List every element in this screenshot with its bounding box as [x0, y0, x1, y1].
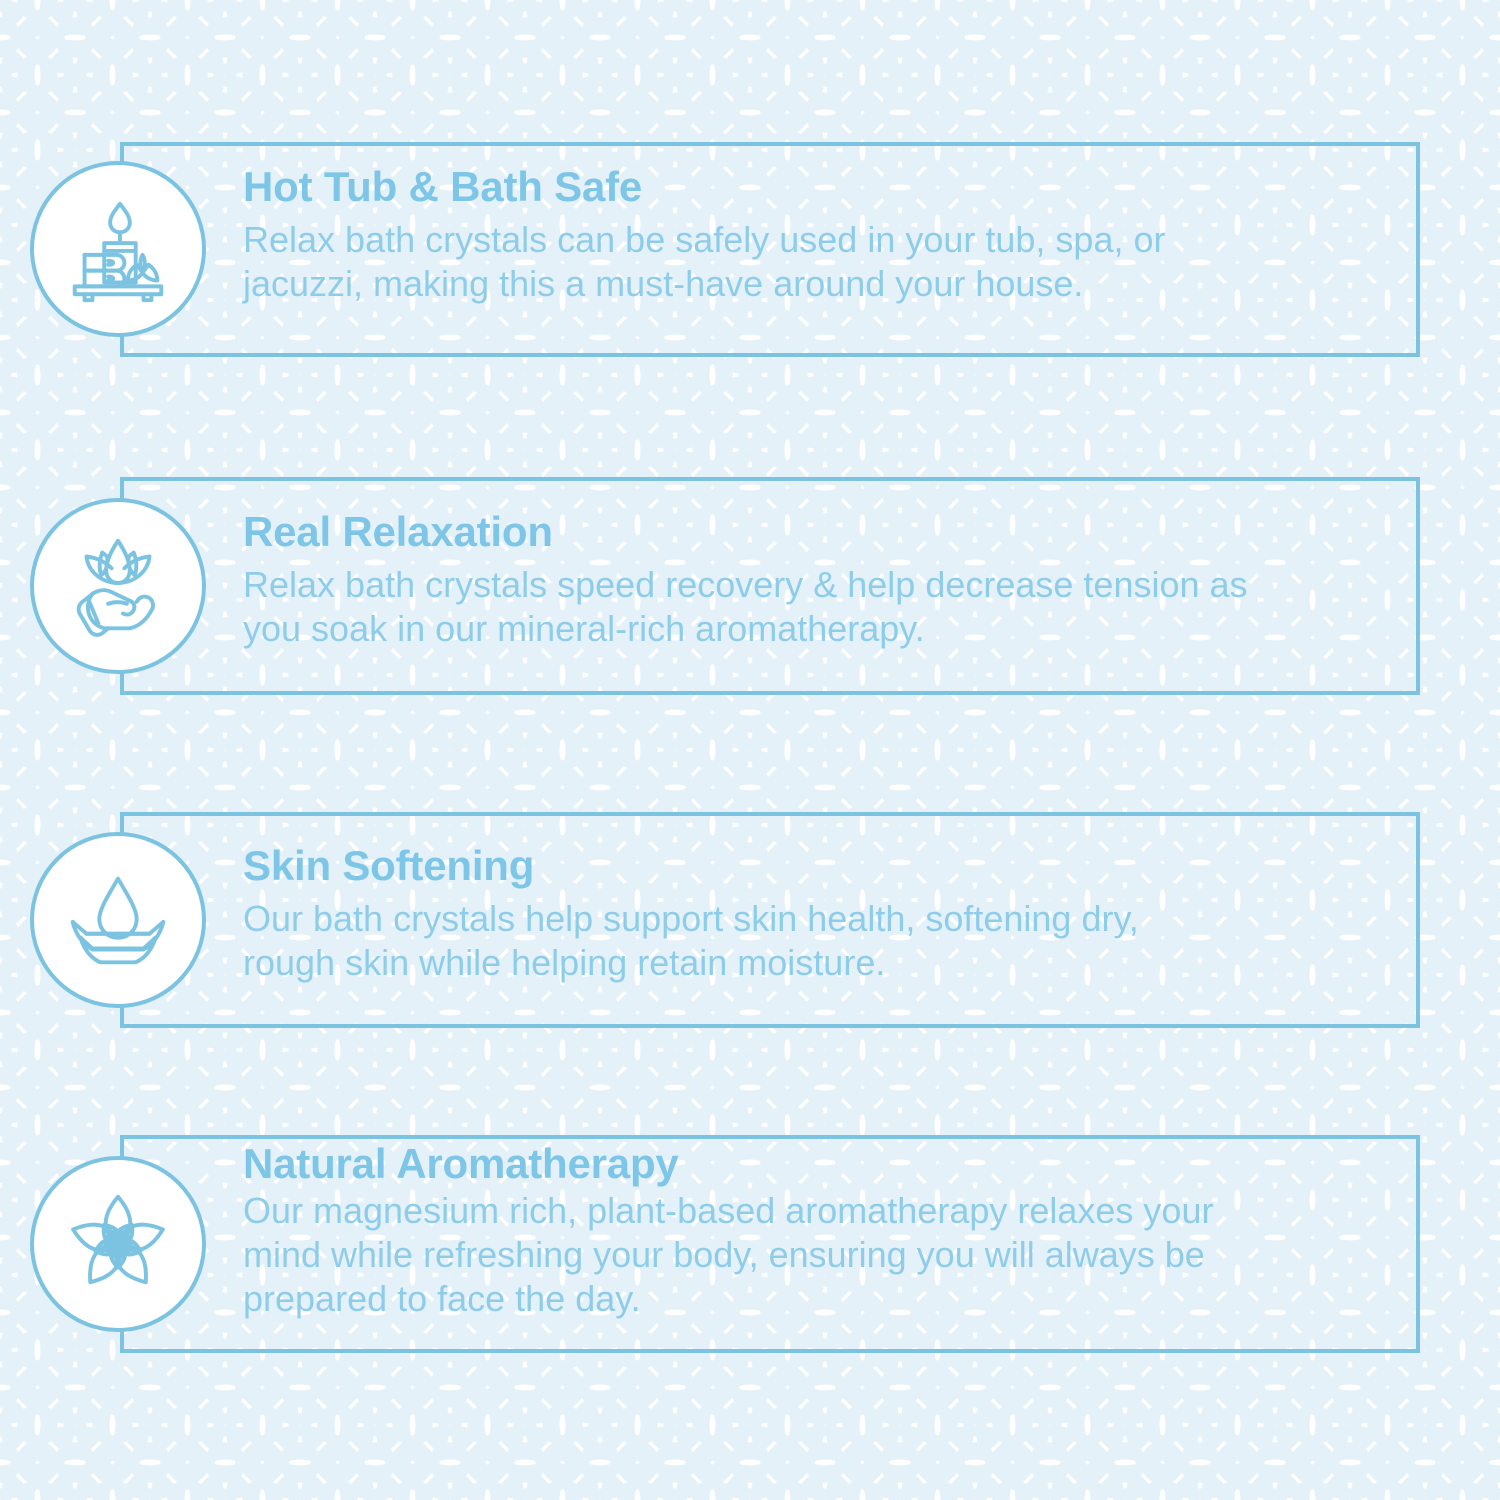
feature-description: Relax bath crystals speed recovery & hel…	[243, 563, 1248, 651]
feature-icon-circle	[30, 1156, 206, 1332]
hand-holding-lotus-icon	[59, 527, 177, 645]
feature-text-group: Hot Tub & Bath Safe Relax bath crystals …	[243, 166, 1165, 306]
feature-description-line: jacuzzi, making this a must-have around …	[243, 262, 1165, 306]
feature-list-infographic: Hot Tub & Bath Safe Relax bath crystals …	[0, 0, 1500, 1500]
feature-text-group: Skin Softening Our bath crystals help su…	[243, 845, 1139, 985]
feature-description-line: rough skin while helping retain moisture…	[243, 941, 1139, 985]
feature-block-natural-aromatherapy: Natural Aromatherapy Our magnesium rich,…	[0, 1135, 1500, 1353]
feature-icon-circle	[30, 498, 206, 674]
feature-description: Our bath crystals help support skin heal…	[243, 897, 1139, 985]
feature-description-line: prepared to face the day.	[243, 1277, 1213, 1321]
feature-block-hot-tub-bath-safe: Hot Tub & Bath Safe Relax bath crystals …	[0, 142, 1500, 357]
feature-title: Real Relaxation	[243, 511, 1248, 553]
feature-description-line: Our bath crystals help support skin heal…	[243, 897, 1139, 941]
feature-text-group: Natural Aromatherapy Our magnesium rich,…	[243, 1143, 1213, 1321]
water-droplet-lotus-bowl-icon	[59, 861, 177, 979]
feature-description-line: Relax bath crystals can be safely used i…	[243, 218, 1165, 262]
feature-description: Our magnesium rich, plant-based aromathe…	[243, 1189, 1213, 1321]
five-petal-flower-icon	[59, 1185, 177, 1303]
feature-description: Relax bath crystals can be safely used i…	[243, 218, 1165, 306]
feature-icon-circle	[30, 832, 206, 1008]
feature-block-real-relaxation: Real Relaxation Relax bath crystals spee…	[0, 477, 1500, 695]
feature-description-line: mind while refreshing your body, ensurin…	[243, 1233, 1213, 1277]
feature-icon-circle	[30, 161, 206, 337]
feature-title: Skin Softening	[243, 845, 1139, 887]
feature-description-line: Relax bath crystals speed recovery & hel…	[243, 563, 1248, 607]
feature-block-skin-softening: Skin Softening Our bath crystals help su…	[0, 812, 1500, 1028]
feature-text-group: Real Relaxation Relax bath crystals spee…	[243, 511, 1248, 651]
feature-description-line: you soak in our mineral-rich aromatherap…	[243, 607, 1248, 651]
candle-towels-spa-icon	[59, 190, 177, 308]
feature-description-line: Our magnesium rich, plant-based aromathe…	[243, 1189, 1213, 1233]
feature-title: Natural Aromatherapy	[243, 1143, 1213, 1185]
feature-title: Hot Tub & Bath Safe	[243, 166, 1165, 208]
